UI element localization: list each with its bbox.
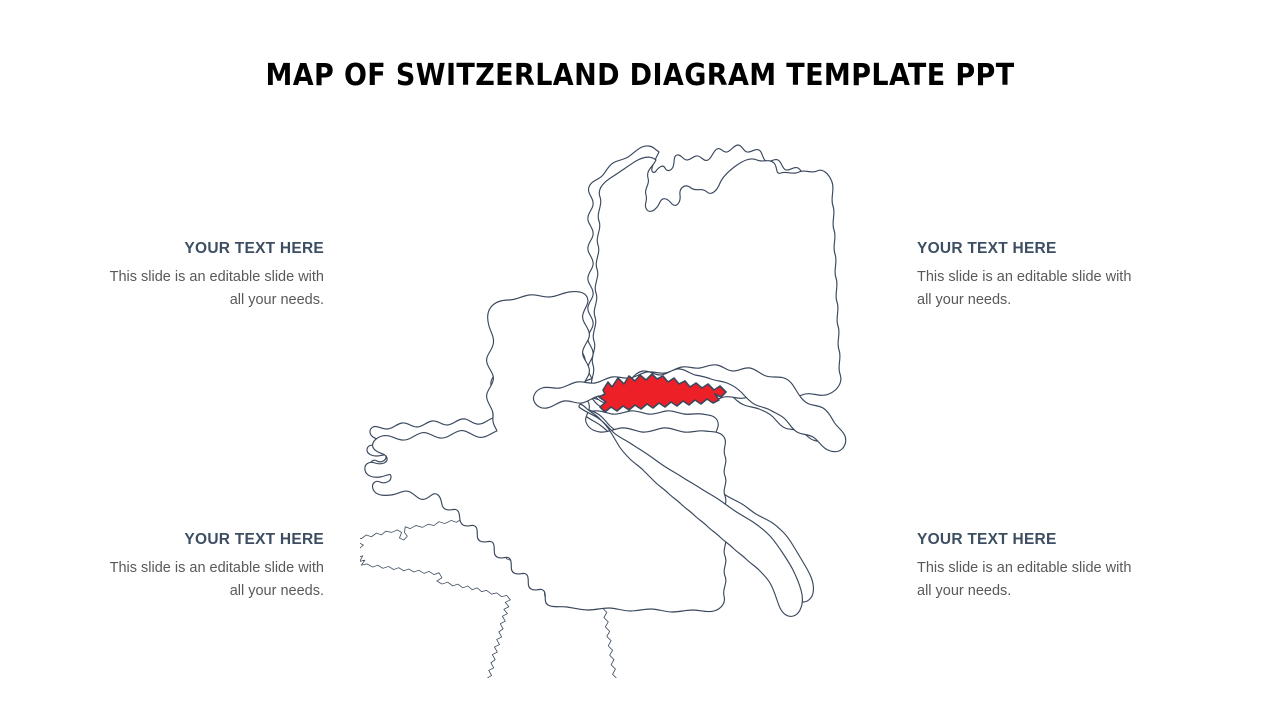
callout-bottom-left: YOUR TEXT HERE This slide is an editable… bbox=[92, 531, 324, 603]
page-title: MAP OF SWITZERLAND DIAGRAM TEMPLATE PPT bbox=[0, 58, 1280, 93]
slide-canvas: MAP OF SWITZERLAND DIAGRAM TEMPLATE PPT bbox=[0, 0, 1280, 720]
callout-body: This slide is an editable slide with all… bbox=[917, 557, 1149, 603]
map-graphic bbox=[360, 138, 920, 678]
callout-heading: YOUR TEXT HERE bbox=[917, 531, 1149, 549]
callout-body: This slide is an editable slide with all… bbox=[92, 557, 324, 603]
callout-body: This slide is an editable slide with all… bbox=[917, 266, 1149, 312]
callout-heading: YOUR TEXT HERE bbox=[92, 531, 324, 549]
callout-body: This slide is an editable slide with all… bbox=[92, 266, 324, 312]
callout-bottom-right: YOUR TEXT HERE This slide is an editable… bbox=[917, 531, 1149, 603]
callout-top-left: YOUR TEXT HERE This slide is an editable… bbox=[92, 240, 324, 312]
callout-heading: YOUR TEXT HERE bbox=[917, 240, 1149, 258]
callout-top-right: YOUR TEXT HERE This slide is an editable… bbox=[917, 240, 1149, 312]
callout-heading: YOUR TEXT HERE bbox=[92, 240, 324, 258]
europe-map-svg bbox=[360, 138, 920, 678]
